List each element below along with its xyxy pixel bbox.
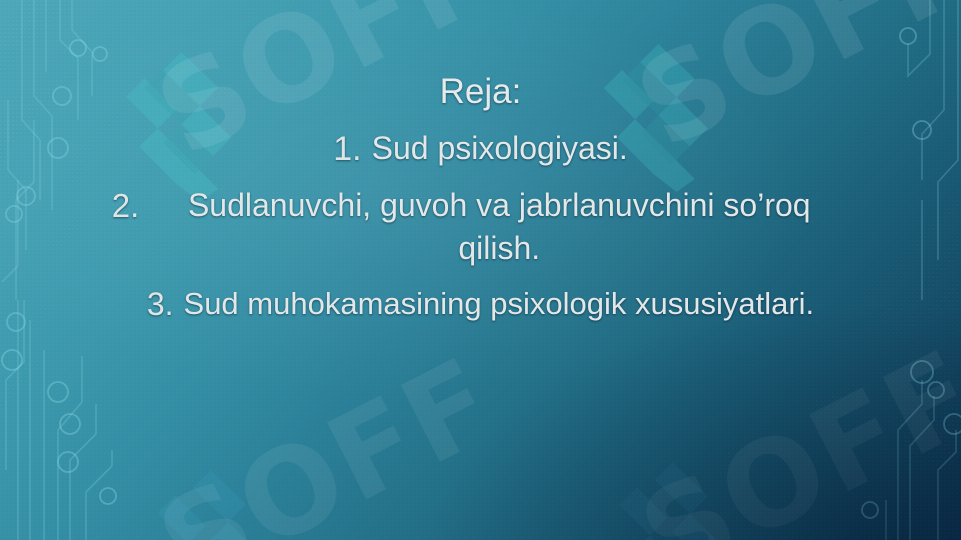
agenda-item-text: Sud muhokamasining psixologik xususiyatl…: [184, 283, 815, 325]
agenda-item-text: Sudlanuvchi, guvoh va jabrlanuvchini so’…: [149, 184, 849, 271]
agenda-item-number: 1.: [333, 127, 361, 172]
agenda-item-text: Sud psixologiyasi.: [372, 127, 628, 171]
agenda-item: 2. Sudlanuvchi, guvoh va jabrlanuvchini …: [86, 184, 876, 271]
presentation-slide: SOFF SOFF SOFF SOFF Reja: 1. Sud psixolo…: [0, 0, 961, 540]
agenda-item-number: 3.: [147, 283, 174, 325]
agenda-list: 1. Sud psixologiyasi. 2. Sudlanuvchi, gu…: [86, 127, 876, 334]
agenda-item: 1. Sud psixologiyasi.: [86, 127, 876, 172]
slide-title: Reja:: [440, 74, 522, 111]
slide-content: Reja: 1. Sud psixologiyasi. 2. Sudlanuvc…: [0, 0, 961, 540]
agenda-item-number: 2.: [112, 184, 140, 228]
agenda-item: 3. Sud muhokamasining psixologik xususiy…: [86, 283, 876, 325]
